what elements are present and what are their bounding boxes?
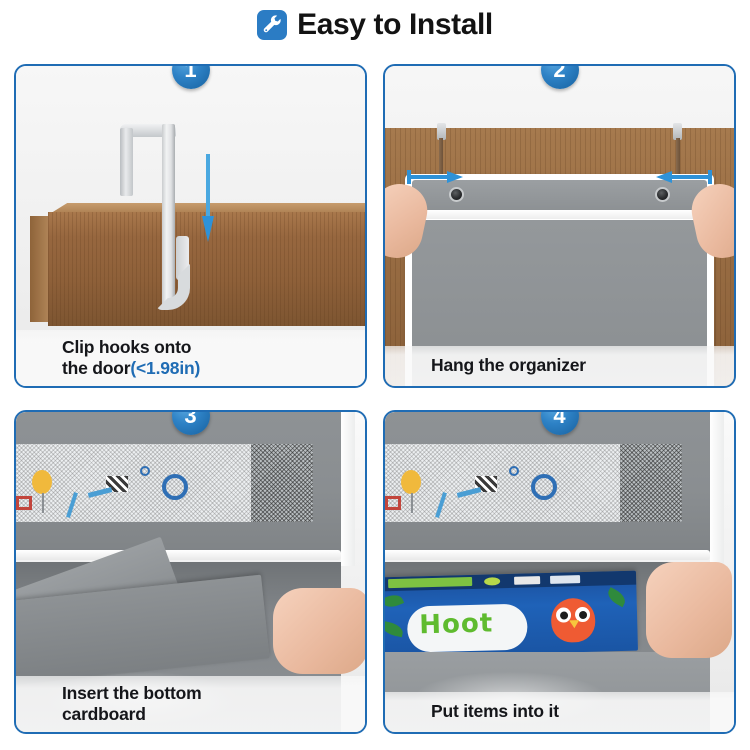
step-caption-3: Insert the bottom cardboard — [16, 676, 365, 732]
step-panel-3[interactable]: 3 Insert the bottom cardboard — [14, 410, 367, 734]
step-panel-1[interactable]: 1 Clip hooks onto the door(<1.98in) — [14, 64, 367, 388]
doodle-balloon — [401, 470, 421, 494]
organizer-right-edge — [341, 412, 355, 566]
doodle-balloon — [32, 470, 52, 494]
mesh-pocket — [385, 444, 682, 522]
caption-line-1: Hang the organizer — [431, 355, 720, 375]
step-caption-4: Put items into it — [385, 692, 734, 732]
owl-beak — [569, 620, 579, 628]
barcode-label — [514, 576, 540, 585]
organizer-right-edge — [710, 412, 724, 566]
caption-line-2: the door(<1.98in) — [62, 358, 351, 378]
doodle-letter-a — [16, 496, 32, 510]
doodle-balloon-string — [42, 493, 44, 513]
caption-line-1: Clip hooks onto — [62, 337, 351, 357]
hand-placing-item — [646, 562, 732, 658]
mesh-dark-region — [251, 444, 313, 522]
arrow-right-icon — [407, 170, 463, 186]
step-2-illustration — [385, 66, 734, 386]
caption-dimension: (<1.98in) — [130, 358, 200, 378]
organizer-bottom-trim — [385, 550, 710, 560]
doodle-line — [435, 492, 447, 518]
arrow-left-icon — [656, 170, 712, 186]
wrench-hand-icon — [257, 10, 287, 40]
grommet-right — [655, 187, 670, 202]
down-arrow-icon — [202, 154, 214, 246]
page-title: Easy to Install — [297, 10, 493, 40]
leaf-3 — [605, 587, 628, 607]
hoot-title: Hoot — [419, 610, 494, 638]
doodle-circle — [509, 466, 519, 476]
doodle-line — [66, 492, 78, 518]
doodle-letter-o — [162, 474, 188, 500]
steps-grid: 1 Clip hooks onto the door(<1.98in) — [0, 48, 750, 748]
caption-line-1: Insert the bottom — [62, 683, 351, 703]
doodle-stroke — [88, 487, 112, 498]
step-caption-2: Hang the organizer — [385, 346, 734, 386]
organizer-bottom-trim — [16, 550, 341, 560]
info-label — [550, 575, 580, 584]
doodle-circle — [140, 466, 150, 476]
hand-inserting — [273, 588, 365, 674]
doodle-letter-a — [385, 496, 401, 510]
step-caption-1: Clip hooks onto the door(<1.98in) — [16, 330, 365, 386]
doodle-letter-o — [531, 474, 557, 500]
badge-green — [484, 577, 500, 585]
step-4-illustration: Hoot — [385, 412, 734, 732]
owl-illustration — [551, 598, 596, 643]
step-panel-4[interactable]: Hoot 4 Put items into it — [383, 410, 736, 734]
leaf-1 — [385, 592, 404, 610]
doodle-balloon-string — [411, 493, 413, 513]
step-panel-2[interactable]: 2 Hang the organizer — [383, 64, 736, 388]
caption-text: the door — [62, 358, 130, 378]
mesh-dark-region — [620, 444, 682, 522]
brand-label — [388, 577, 472, 588]
page-header: Easy to Install — [0, 0, 750, 46]
hoot-game-box: Hoot — [385, 571, 638, 658]
grommet-left — [449, 187, 464, 202]
caption-line-1: Put items into it — [431, 701, 720, 721]
hook-short-arm — [120, 128, 133, 196]
mesh-pocket — [16, 444, 313, 522]
doodle-stroke — [457, 487, 481, 498]
leaf-2 — [385, 621, 404, 637]
organizer-white-trim — [409, 210, 710, 219]
caption-line-2: cardboard — [62, 704, 351, 724]
